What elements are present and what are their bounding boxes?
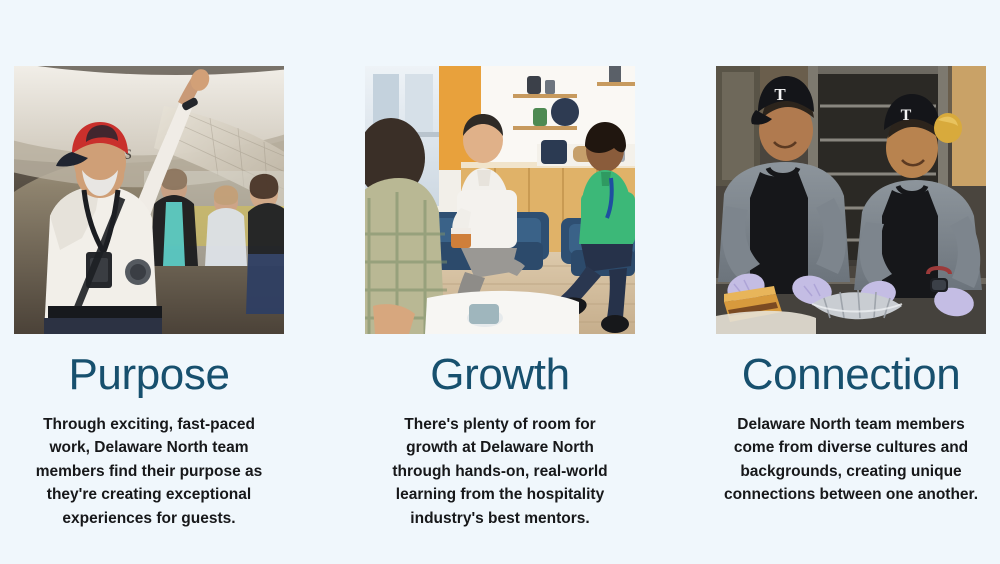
- card-title-connection: Connection: [742, 352, 961, 399]
- office-lounge-conversation-photo: [365, 66, 635, 334]
- svg-text:T: T: [774, 85, 786, 104]
- values-columns: Atlantis: [14, 66, 986, 530]
- values-section: Atlantis: [0, 0, 1000, 564]
- card-body-purpose: Through exciting, fast-paced work, Delaw…: [23, 413, 275, 531]
- kitchen-team-preparing-food-photo: T: [716, 66, 986, 334]
- card-title-growth: Growth: [430, 352, 569, 399]
- card-body-growth: There's plenty of room for growth at Del…: [384, 413, 616, 531]
- tour-guide-space-shuttle-photo: Atlantis: [14, 66, 284, 334]
- card-body-connection: Delaware North team members come from di…: [718, 413, 984, 507]
- value-card-connection: T: [716, 66, 986, 507]
- card-title-purpose: Purpose: [68, 352, 229, 399]
- svg-text:T: T: [901, 107, 912, 124]
- value-card-purpose: Atlantis: [14, 66, 284, 530]
- value-card-growth: Growth There's plenty of room for growth…: [365, 66, 635, 530]
